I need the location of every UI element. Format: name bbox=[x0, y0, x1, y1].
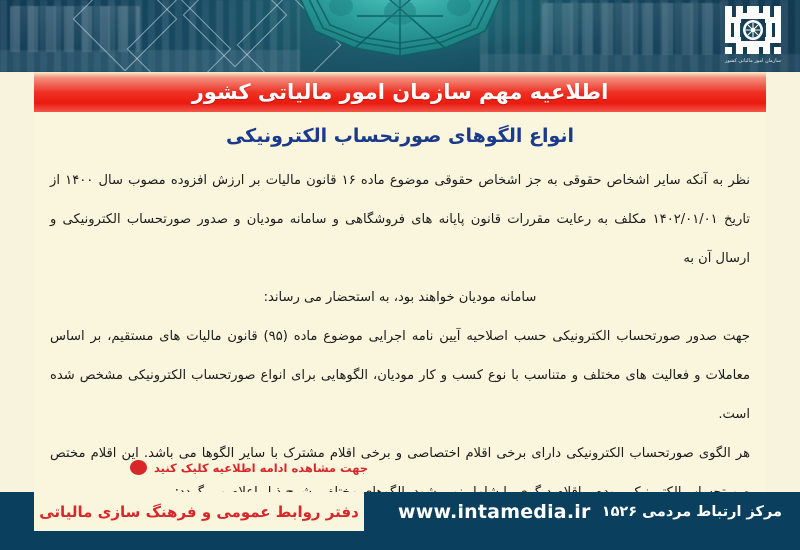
hotline-label: مرکز ارتباط مردمی ۱۵۲۶ bbox=[602, 504, 782, 520]
continue-announcement-label: جهت مشاهده ادامه اطلاعیه کلیک کنید bbox=[154, 461, 368, 475]
text-line: معاملات و فعالیت های مختلف و متناسب با ن… bbox=[50, 368, 750, 422]
poster-footer: دفتر روابط عمومی و فرهنگ سازی مالیاتی ww… bbox=[0, 492, 800, 550]
footer-office-block: دفتر روابط عمومی و فرهنگ سازی مالیاتی bbox=[34, 492, 364, 531]
diamond-pattern-decoration bbox=[88, 0, 318, 72]
announcement-title: اطلاعیه مهم سازمان امور مالیاتی کشور bbox=[192, 80, 609, 104]
continue-announcement-link[interactable]: جهت مشاهده ادامه اطلاعیه کلیک کنید bbox=[130, 460, 368, 475]
text-line: ۱۴۰۲/۰۱/۰۱ مکلف به رعایت مقررات قانون پا… bbox=[50, 212, 750, 266]
red-circle-bullet-icon bbox=[130, 460, 147, 475]
paragraph: نظر به آنکه سایر اشخاص حقوقی به جز اشخاص… bbox=[50, 161, 750, 317]
paragraph: جهت صدور صورتحساب الکترونیکی حسب اصلاحیه… bbox=[50, 317, 750, 434]
announcement-body: انواع الگوهای صورتحساب الکترونیکی نظر به… bbox=[34, 112, 766, 492]
inta-emblem-icon bbox=[720, 3, 786, 57]
text-line: جهت صدور صورتحساب الکترونیکی حسب اصلاحیه… bbox=[50, 329, 750, 344]
hotline-info: مرکز ارتباط مردمی ۱۵۲۶ bbox=[602, 492, 782, 531]
announcement-title-banner: اطلاعیه مهم سازمان امور مالیاتی کشور bbox=[34, 72, 766, 112]
inta-logo: سازمان امور مالیاتی کشور bbox=[720, 3, 786, 69]
website-label: www.intamedia.ir bbox=[398, 501, 591, 523]
text-line: سامانه مودیان خواهند بود، به استحضار می … bbox=[50, 278, 750, 317]
persian-tiled-dome-icon bbox=[285, 0, 515, 66]
poster-header: سازمان امور مالیاتی کشور bbox=[0, 0, 800, 72]
logo-caption: سازمان امور مالیاتی کشور bbox=[720, 58, 786, 64]
footer-office-label: دفتر روابط عمومی و فرهنگ سازی مالیاتی bbox=[39, 503, 359, 521]
announcement-poster: سازمان امور مالیاتی کشور اطلاعیه مهم ساز… bbox=[0, 0, 800, 550]
website-link[interactable]: www.intamedia.ir bbox=[398, 492, 591, 531]
text-line: هر الگوی صورتحساب الکترونیکی دارای برخی … bbox=[50, 446, 750, 461]
announcement-subtitle: انواع الگوهای صورتحساب الکترونیکی bbox=[34, 112, 766, 147]
